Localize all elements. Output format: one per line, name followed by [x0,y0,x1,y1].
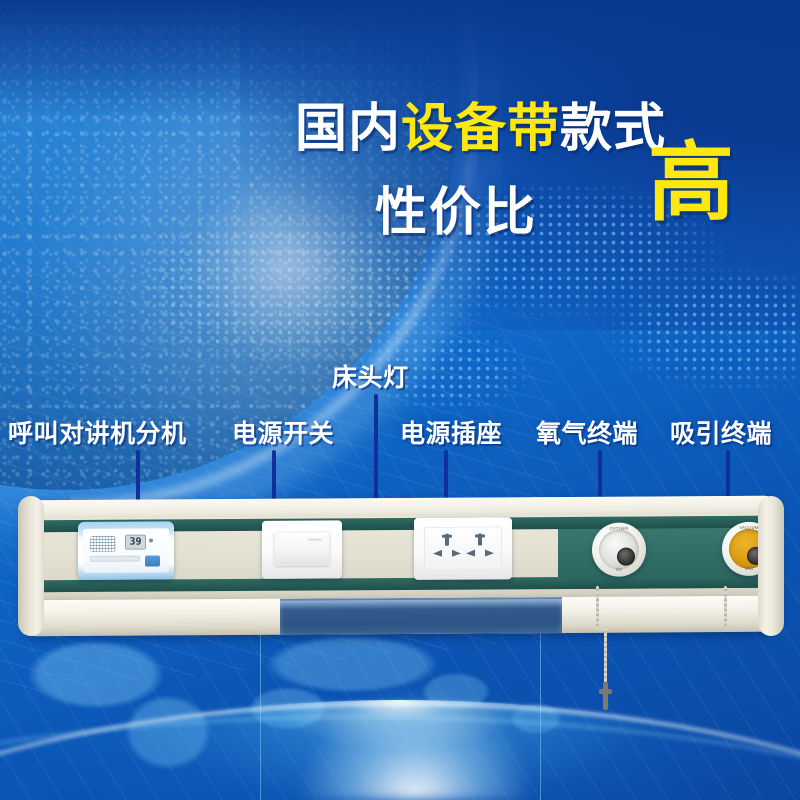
headline-block: 国内设备带款式 性价比 高 [0,0,800,250]
power-switch[interactable] [262,520,342,578]
promo-banner: 国内设备带款式 性价比 高 呼叫对讲机分机 电源开关 床头灯 电源插座 氧气终端… [0,0,800,800]
rocker-switch-icon[interactable] [274,531,330,565]
medical-bedhead-panel: 39 [22,498,780,633]
callout-label-bed-light: 床头灯 [332,358,409,394]
panel-top-rail [22,496,780,519]
socket-outlet-icon [432,534,462,564]
callout-label-suction: 吸引终端 [670,414,772,450]
headline-line1-highlight: 设备带 [401,100,560,158]
callout-label-intercom: 呼叫对讲机分机 [8,414,187,450]
socket-outlet-icon [465,533,495,563]
intercom-call-button[interactable] [145,555,160,566]
oxygen-terminal-port-icon [617,548,635,566]
oxygen-terminal-top-text: OXYGEN [592,526,646,531]
panel-end-cap-left [18,496,44,636]
pull-cord[interactable] [604,628,607,688]
oxygen-terminal-ring [599,530,639,570]
headline-line1-part1: 国内 [295,100,401,158]
oxygen-cord-upper [596,586,599,626]
bed-light-gloss [280,599,562,610]
headline-line-2-highlight: 高 [648,140,734,226]
panel-end-cap-right [758,496,784,636]
socket-faceplate [424,526,502,570]
callout-label-oxygen: 氧气终端 [536,414,638,450]
intercom-slot [90,556,140,562]
power-socket[interactable] [414,517,512,580]
callout-label-socket: 电源插座 [400,414,502,450]
speaker-grille-icon [90,536,116,552]
oxygen-terminal-bottom-text: O2 [592,567,646,572]
intercom-unit[interactable]: 39 [78,521,174,580]
callout-label-switch: 电源开关 [232,414,334,450]
intercom-faceplate: 39 [83,528,169,573]
panel-bottom-rail [22,596,780,637]
intercom-display: 39 [125,535,146,550]
oxygen-terminal[interactable]: OXYGEN O2 [592,523,646,577]
panel-body: 39 [22,496,780,609]
rocker-marking [308,538,322,540]
intercom-led-icon [149,539,153,543]
horizon-glow-core [300,690,530,800]
headline-line-2: 性价比 [375,170,537,245]
pull-cord-pendant[interactable] [599,682,612,710]
suction-cord-upper [724,586,727,626]
